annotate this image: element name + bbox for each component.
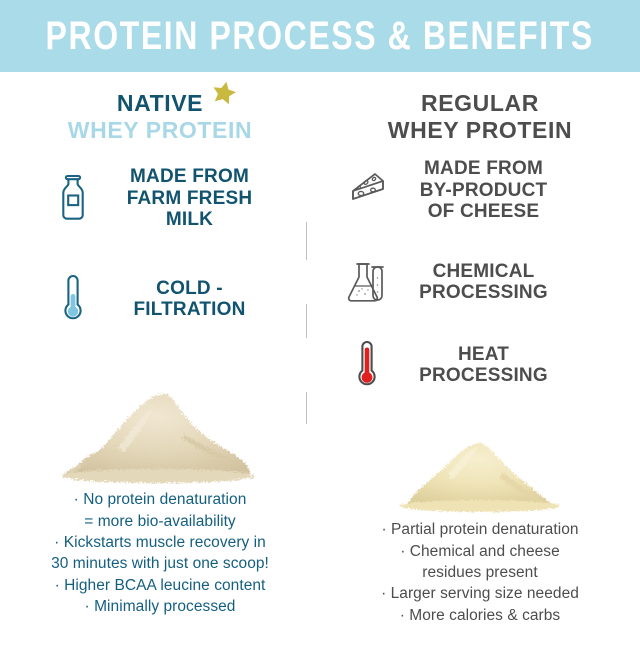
comparison-columns: NATIVE WHEY PROTEIN MADE FROM FARM FRESH	[0, 72, 640, 647]
list-item: · Kickstarts muscle recovery in	[0, 533, 320, 553]
step-label-line: MADE FROM	[396, 158, 571, 179]
native-column-heading: NATIVE WHEY PROTEIN	[0, 72, 320, 144]
step-made-from-milk: MADE FROM FARM FRESH MILK	[0, 166, 320, 230]
step-connector	[306, 392, 307, 424]
step-label-cold-filtration: COLD - FILTRATION	[102, 278, 277, 321]
milk-bottle-icon	[44, 173, 102, 223]
native-heading-line2: WHEY PROTEIN	[0, 117, 320, 144]
step-label-chemical-processing: CHEMICAL PROCESSING	[396, 261, 571, 304]
step-cold-filtration: COLD - FILTRATION	[0, 272, 320, 326]
step-heat-processing: HEAT PROCESSING	[320, 338, 640, 392]
step-label-line: OF CHEESE	[396, 201, 571, 222]
native-powder-wrap	[0, 374, 320, 484]
step-connector	[306, 222, 307, 260]
regular-heading-line1: REGULAR	[421, 90, 539, 117]
list-item: · More calories & carbs	[320, 606, 640, 626]
cheese-wedge-icon	[338, 169, 396, 211]
regular-drawbacks-list: · Partial protein denaturation · Chemica…	[320, 520, 640, 626]
regular-heading-line2: WHEY PROTEIN	[320, 117, 640, 144]
list-item: 30 minutes with just one scoop!	[0, 554, 320, 574]
step-label-made-from-milk: MADE FROM FARM FRESH MILK	[102, 166, 277, 230]
list-item: · Chemical and cheese	[320, 542, 640, 562]
flask-icon	[338, 260, 396, 304]
column-regular-whey: REGULAR WHEY PROTEIN	[320, 72, 640, 647]
step-connector	[306, 304, 307, 338]
step-label-line: MADE FROM	[102, 166, 277, 187]
list-item: · Larger serving size needed	[320, 584, 640, 604]
heat-thermometer-icon	[338, 338, 396, 392]
step-label-line: PROCESSING	[396, 365, 571, 386]
list-item: · Minimally processed	[0, 597, 320, 617]
step-label-line: FARM FRESH	[102, 188, 277, 209]
regular-powder-wrap	[320, 428, 640, 514]
protein-powder-pile-regular	[390, 430, 570, 514]
step-label-heat-processing: HEAT PROCESSING	[396, 344, 571, 387]
step-label-line: PROCESSING	[396, 282, 571, 303]
list-item: · Partial protein denaturation	[320, 520, 640, 540]
step-label-line: COLD -	[102, 278, 277, 299]
step-label-line: MILK	[102, 209, 277, 230]
cold-thermometer-icon	[44, 272, 102, 326]
page-title: PROTEIN PROCESS & BENEFITS	[46, 16, 594, 56]
column-native-whey: NATIVE WHEY PROTEIN MADE FROM FARM FRESH	[0, 72, 320, 647]
step-made-from-cheese: MADE FROM BY-PRODUCT OF CHEESE	[320, 158, 640, 222]
step-label-line: FILTRATION	[102, 299, 277, 320]
protein-powder-pile-native	[54, 378, 266, 484]
step-label-made-from-cheese: MADE FROM BY-PRODUCT OF CHEESE	[396, 158, 571, 222]
regular-steps: MADE FROM BY-PRODUCT OF CHEESE	[320, 158, 640, 424]
list-item: · No protein denaturation	[0, 490, 320, 510]
list-item: = more bio-availability	[0, 512, 320, 532]
step-label-line: HEAT	[396, 344, 571, 365]
native-steps: MADE FROM FARM FRESH MILK COLD -	[0, 166, 320, 366]
regular-column-heading: REGULAR WHEY PROTEIN	[320, 72, 640, 144]
native-heading-line1: NATIVE	[117, 90, 203, 117]
header-banner: PROTEIN PROCESS & BENEFITS	[0, 0, 640, 72]
step-label-line: CHEMICAL	[396, 261, 571, 282]
list-item: residues present	[320, 563, 640, 583]
step-label-line: BY-PRODUCT	[396, 180, 571, 201]
star-icon	[211, 80, 237, 106]
step-chemical-processing: CHEMICAL PROCESSING	[320, 260, 640, 304]
native-benefits-list: · No protein denaturation = more bio-ava…	[0, 490, 320, 618]
list-item: · Higher BCAA leucine content	[0, 576, 320, 596]
